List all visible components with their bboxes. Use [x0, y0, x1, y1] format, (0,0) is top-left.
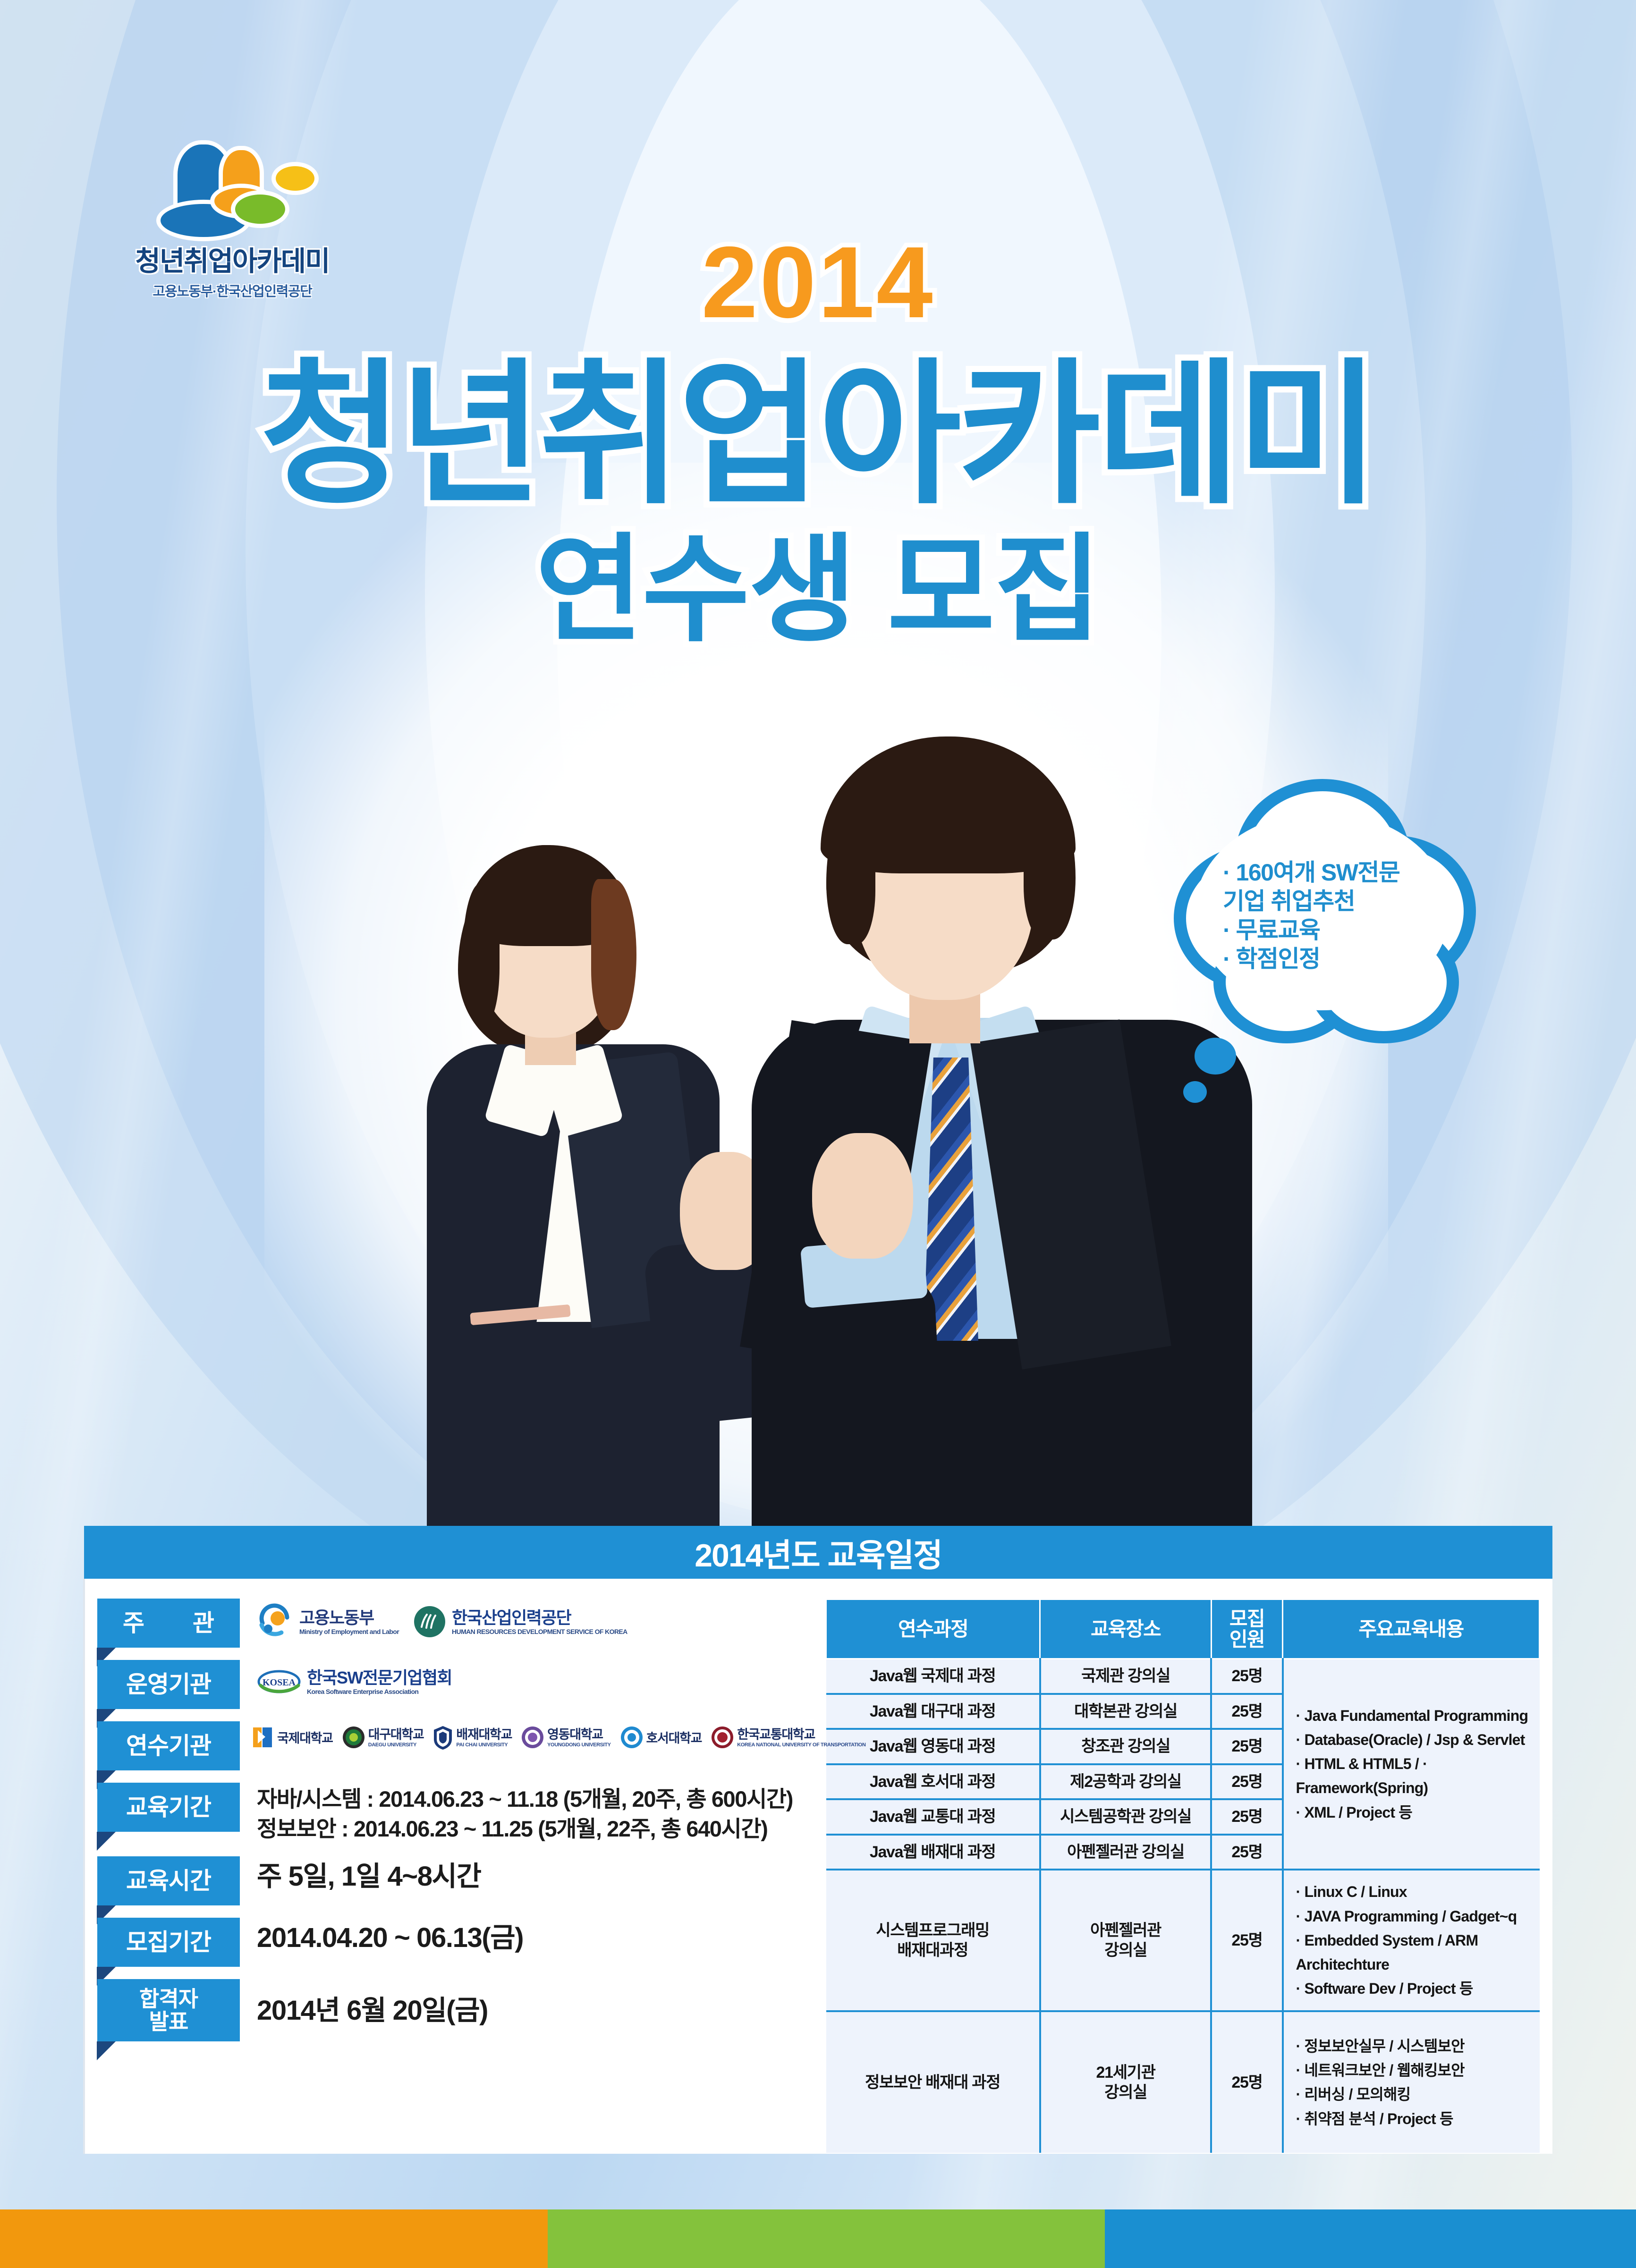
info-row-host: 주 관: [97, 1599, 821, 1648]
info-label-text: 연수기관: [126, 1734, 211, 1759]
table-row: 정보보안 배재대 과정 21세기관 강의실 25명 · 정보보안실무 / 시스템…: [826, 2011, 1540, 2153]
info-label-operator: 운영기관: [97, 1660, 240, 1709]
cell-course: Java웹 배재대 과정: [826, 1835, 1040, 1870]
org-name-en: Korea Software Enterprise Association: [307, 1688, 452, 1696]
headline-year: 2014: [701, 231, 934, 333]
info-label-text: 합격자 발표: [139, 1988, 198, 2033]
headline-sub: 연수생 모집: [0, 525, 1636, 654]
footer-color-bars: [0, 2209, 1636, 2268]
benefits-list: · 160여개 SW전문 기업 취업추천 · 무료교육 · 학점인정: [1223, 858, 1445, 973]
info-row-operator: 운영기관 KOSEA: [97, 1660, 821, 1709]
university-name: 호서대학교: [646, 1731, 702, 1745]
info-label-text: 모집기간: [126, 1930, 211, 1955]
th-capacity: 모집 인원: [1211, 1599, 1282, 1659]
benefit-item: 기업 취업추천: [1223, 887, 1445, 916]
content-line: · 정보보안실무 / 시스템보안: [1296, 2034, 1537, 2058]
university-name-en: DAEGU UNIVERSITY: [368, 1742, 424, 1748]
benefit-item: · 학점인정: [1223, 945, 1445, 973]
kookje-university-seal-icon: [252, 1726, 274, 1752]
info-label-announcement: 합격자 발표: [97, 1979, 240, 2041]
academy-mark-icon: [147, 142, 317, 236]
kut-university-seal-icon: [711, 1726, 734, 1752]
info-value-announcement: 2014년 6월 20일(금): [240, 1979, 488, 2029]
cell-capacity: 25명: [1211, 1870, 1282, 2011]
info-row-period: 교육기간 자바/시스템 : 2014.06.23 ~ 11.18 (5개월, 2…: [97, 1783, 821, 1844]
bubble-dot-large: [1195, 1038, 1236, 1075]
info-row-institutions: 연수기관 국제대학교: [97, 1721, 821, 1770]
ministry-of-labor-emblem-icon: [257, 1603, 294, 1642]
university-name: 대구대학교: [368, 1727, 424, 1742]
university-kut: 한국교통대학교 KOREA NATIONAL UNIVERSITY OF TRA…: [711, 1726, 865, 1752]
paichai-university-seal-icon: [433, 1725, 453, 1752]
cell-capacity: 25명: [1211, 1659, 1282, 1694]
info-label-text: 교육기간: [126, 1795, 211, 1820]
cell-capacity: 25명: [1211, 1835, 1282, 1870]
info-column: 주 관: [84, 1579, 821, 2154]
cell-course: Java웹 국제대 과정: [826, 1659, 1040, 1694]
info-row-application: 모집기간 2014.04.20 ~ 06.13(금): [97, 1918, 821, 1967]
hoseo-university-seal-icon: [620, 1726, 643, 1752]
info-label-application: 모집기간: [97, 1918, 240, 1967]
content-line: · HTML & HTML5 / · Framework(Spring): [1296, 1752, 1537, 1800]
th-course: 연수과정: [826, 1599, 1040, 1659]
footer-bar-blue: [1105, 2209, 1636, 2268]
university-name-en: PAI CHAI UNIVERSITY: [456, 1742, 512, 1748]
benefit-item: · 무료교육: [1223, 916, 1445, 945]
schedule-banner: 2014년도 교육일정: [84, 1526, 1552, 1579]
info-label-text: 교육시간: [126, 1869, 211, 1894]
cell-place: 아펜젤러관 강의실: [1040, 1870, 1212, 2011]
university-hoseo: 호서대학교: [620, 1726, 702, 1752]
org-name: 한국SW전문기업협회: [307, 1668, 452, 1687]
cell-place: 대학본관 강의실: [1040, 1694, 1212, 1729]
info-value-period: 자바/시스템 : 2014.06.23 ~ 11.18 (5개월, 20주, 총…: [240, 1783, 793, 1844]
kosea-emblem-icon: KOSEA: [257, 1665, 301, 1701]
daegu-university-seal-icon: [342, 1726, 365, 1752]
org-logo-hrdkorea: 한국산업인력공단 HUMAN RESOURCES DEVELOPMENT SER…: [413, 1605, 627, 1641]
content-line: · XML / Project 등: [1296, 1801, 1537, 1825]
org-logo-ministry: 고용노동부 Ministry of Employment and Labor: [257, 1603, 399, 1642]
cell-place: 아펜젤러관 강의실: [1040, 1835, 1212, 1870]
info-label-text: 주 관: [102, 1611, 235, 1636]
youngdong-university-seal-icon: [521, 1726, 544, 1752]
content-line: · 리버싱 / 모의해킹: [1296, 2082, 1537, 2107]
bubble-dot-small: [1183, 1081, 1207, 1103]
info-label-hours: 교육시간: [97, 1856, 240, 1905]
info-value-application: 2014.04.20 ~ 06.13(금): [240, 1918, 523, 1956]
university-name: 국제대학교: [277, 1731, 333, 1745]
info-value-operator: KOSEA 한국SW전문기업협회 Korea Software Enterpri…: [240, 1660, 452, 1701]
th-place: 교육장소: [1040, 1599, 1212, 1659]
content-line: · Java Fundamental Programming: [1296, 1704, 1537, 1728]
info-value-institutions: 국제대학교 대구대학교 DAEGU UNIVERSITY: [240, 1721, 866, 1752]
university-youngdong: 영동대학교 YOUNGDONG UNIVERSITY: [521, 1726, 610, 1752]
content-line: · Linux C / Linux: [1296, 1880, 1537, 1904]
info-label-institutions: 연수기관: [97, 1721, 240, 1770]
panel-divider: [83, 1579, 85, 2154]
panel-body: 주 관: [84, 1579, 1552, 2154]
benefit-item: · 160여개 SW전문: [1223, 858, 1445, 887]
org-name: 고용노동부: [299, 1608, 374, 1627]
cell-course: 시스템프로그래밍 배재대과정: [826, 1870, 1040, 2011]
cell-place: 창조관 강의실: [1040, 1729, 1212, 1764]
info-label-period: 교육기간: [97, 1783, 240, 1832]
schedule-banner-title: 2014년도 교육일정: [695, 1529, 942, 1576]
cell-place: 제2공학과 강의실: [1040, 1764, 1212, 1800]
info-label-host: 주 관: [97, 1599, 240, 1648]
content-line: · Embedded System / ARM Architechture: [1296, 1929, 1537, 1977]
info-value-hours: 주 5일, 1일 4~8시간: [240, 1856, 481, 1895]
org-name: 한국산업인력공단: [452, 1608, 571, 1627]
cell-place: 시스템공학관 강의실: [1040, 1799, 1212, 1835]
university-name: 영동대학교: [547, 1727, 603, 1742]
course-schedule-table: 연수과정 교육장소 모집 인원 주요교육내용 Java웹 국제대 과정 국제관 …: [825, 1599, 1540, 2153]
cell-course: Java웹 교통대 과정: [826, 1799, 1040, 1835]
table-row: 시스템프로그래밍 배재대과정 아펜젤러관 강의실 25명 · Linux C /…: [826, 1870, 1540, 2011]
info-label-text: 운영기관: [126, 1672, 211, 1697]
content-line: · JAVA Programming / Gadget~q: [1296, 1904, 1537, 1929]
org-name-en: Ministry of Employment and Labor: [299, 1628, 399, 1636]
application-line: 2014.04.20 ~ 06.13(금): [257, 1920, 523, 1956]
org-logo-kosea: KOSEA 한국SW전문기업협회 Korea Software Enterpri…: [257, 1665, 452, 1701]
content-line: · Software Dev / Project 등: [1296, 1977, 1537, 2001]
hours-line: 주 5일, 1일 4~8시간: [257, 1858, 481, 1895]
cell-capacity: 25명: [1211, 1799, 1282, 1835]
cell-capacity: 25명: [1211, 1694, 1282, 1729]
cell-capacity: 25명: [1211, 1729, 1282, 1764]
university-kookje: 국제대학교: [252, 1726, 333, 1752]
headline-main: 청년취업아카데미: [0, 346, 1636, 524]
svg-text:KOSEA: KOSEA: [263, 1677, 296, 1688]
university-paichai: 배재대학교 PAI CHAI UNIVERSITY: [433, 1725, 512, 1752]
footer-bar-green: [548, 2209, 1105, 2268]
cell-content-security: · 정보보안실무 / 시스템보안 · 네트워크보안 / 웹해킹보안 · 리버싱 …: [1283, 2011, 1540, 2153]
university-daegu: 대구대학교 DAEGU UNIVERSITY: [342, 1726, 424, 1752]
cell-course: Java웹 호서대 과정: [826, 1764, 1040, 1800]
th-content: 주요교육내용: [1283, 1599, 1540, 1659]
cell-capacity: 25명: [1211, 1764, 1282, 1800]
course-table-column: 연수과정 교육장소 모집 인원 주요교육내용 Java웹 국제대 과정 국제관 …: [821, 1579, 1552, 2154]
period-line: 자바/시스템 : 2014.06.23 ~ 11.18 (5개월, 20주, 총…: [257, 1785, 793, 1814]
table-header-row: 연수과정 교육장소 모집 인원 주요교육내용: [826, 1599, 1540, 1659]
university-name-en: KOREA NATIONAL UNIVERSITY OF TRANSPORTAT…: [737, 1742, 865, 1748]
info-value-host: 고용노동부 Ministry of Employment and Labor: [240, 1599, 627, 1642]
content-line: · 네트워크보안 / 웹해킹보안: [1296, 2058, 1537, 2082]
university-name-en: YOUNGDONG UNIVERSITY: [547, 1742, 610, 1748]
info-row-hours: 교육시간 주 5일, 1일 4~8시간: [97, 1856, 821, 1905]
content-line: · Database(Oracle) / Jsp & Servlet: [1296, 1728, 1537, 1752]
cell-content-java: · Java Fundamental Programming · Databas…: [1283, 1659, 1540, 1870]
university-name: 배재대학교: [456, 1727, 512, 1742]
org-name-en: HUMAN RESOURCES DEVELOPMENT SERVICE OF K…: [452, 1628, 627, 1636]
schedule-panel: 2014년도 교육일정 주 관: [84, 1526, 1552, 2154]
content-line: · 취약점 분석 / Project 등: [1296, 2107, 1537, 2131]
period-line: 정보보안 : 2014.06.23 ~ 11.25 (5개월, 22주, 총 6…: [257, 1814, 793, 1844]
cell-capacity: 25명: [1211, 2011, 1282, 2153]
info-row-announcement: 합격자 발표 2014년 6월 20일(금): [97, 1979, 821, 2041]
table-row: Java웹 국제대 과정 국제관 강의실 25명 · Java Fundamen…: [826, 1659, 1540, 1694]
cell-place: 21세기관 강의실: [1040, 2011, 1212, 2153]
hrdkorea-emblem-icon: [413, 1605, 446, 1641]
cell-course: 정보보안 배재대 과정: [826, 2011, 1040, 2153]
poster-canvas: 청년취업아카데미 고용노동부·한국산업인력공단 2014 청년취업아카데미 연수…: [0, 0, 1636, 2268]
benefits-thought-bubble: · 160여개 SW전문 기업 취업추천 · 무료교육 · 학점인정: [1166, 779, 1487, 1072]
footer-bar-orange: [0, 2209, 548, 2268]
headline-block: 2014 청년취업아카데미 연수생 모집: [0, 231, 1636, 654]
cell-place: 국제관 강의실: [1040, 1659, 1212, 1694]
cell-content-system: · Linux C / Linux · JAVA Programming / G…: [1283, 1870, 1540, 2011]
announcement-line: 2014년 6월 20일(금): [257, 1992, 488, 2029]
university-name: 한국교통대학교: [737, 1727, 815, 1742]
